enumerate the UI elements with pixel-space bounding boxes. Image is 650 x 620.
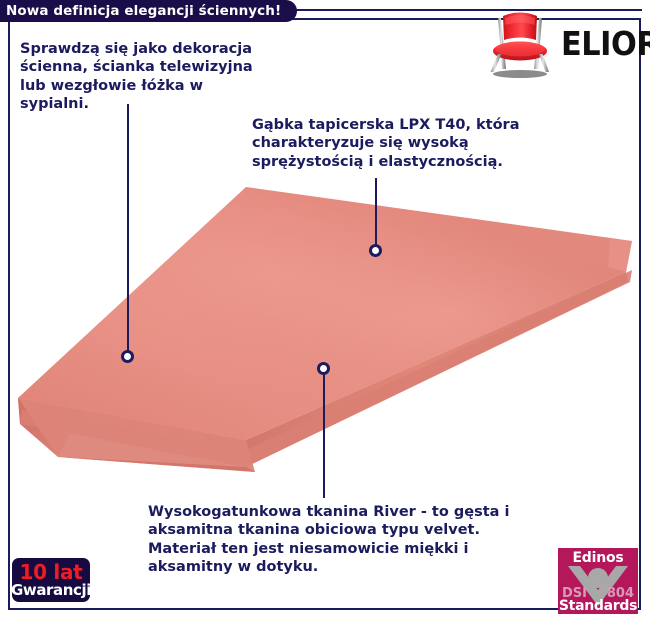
leader-dot-3 [317,362,330,375]
leader-line-3 [323,372,325,498]
header-banner-text: Nowa definicja elegancji ściennych! [6,3,281,19]
leader-dot-1 [121,350,134,363]
standards-brand: Edinos [558,550,638,566]
brand-logo: ELIOR [483,4,638,82]
standards-label: Standards [558,598,638,614]
leader-dot-2 [369,244,382,257]
callout-text-river-fabric: Wysokogatunkowa tkanina River - to gęsta… [148,503,523,577]
promo-image-canvas: Nowa definicja elegancji ściennych! [0,0,650,620]
brand-wordmark: ELIOR [561,24,650,63]
warranty-badge: 10 lat Gwarancji [12,558,90,602]
callout-text-decoration-uses: Sprawdzą się jako dekoracja ścienna, ści… [20,40,270,114]
standards-badge: Edinos DSI 804 Standards [558,548,638,614]
callout-text-foam-lpx-t40: Gąbka tapicerska LPX T40, która charakte… [252,116,542,171]
red-chair-icon [483,6,557,80]
warranty-years: 10 lat [20,562,83,582]
warranty-label: Gwarancji [11,583,91,598]
leader-line-2 [375,178,377,248]
leader-line-1 [127,104,129,356]
header-banner: Nowa definicja elegancji ściennych! [0,0,297,22]
